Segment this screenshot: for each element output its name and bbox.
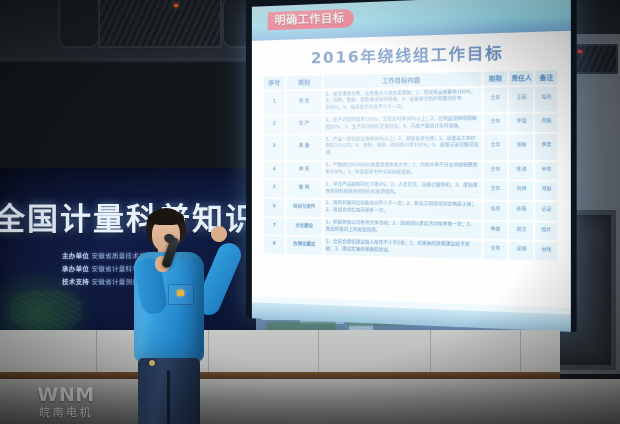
slide-body: 2016年绕线组工作目标 序号 类别 工作目标内容 期限 责任人 备 (252, 31, 571, 308)
cell-owner: 王丽 (510, 87, 534, 113)
cell-category: 合理化建议 (287, 237, 322, 255)
table-row: 6 培训与宣传 1、每月开展岗位技能培训不少于一次；2、新员工岗前培训合格后上岗… (264, 199, 557, 220)
cell-content: 1、每月开展岗位技能培训不少于一次；2、新员工岗前培训合格后上岗；3、班组宣传栏… (324, 200, 482, 219)
cell-deadline: 季度 (484, 221, 508, 239)
cell-content: 1、全员合理化建议每人每年不少于2条；2、对采纳的改善建议给予奖励；3、建议实施… (324, 238, 482, 259)
ac-vent-main (98, 0, 222, 48)
ceiling-indicator-light (174, 4, 178, 7)
credit-label: 承办单位 (62, 265, 89, 273)
col-header-no: 序号 (264, 76, 285, 90)
cell-no: 3 (264, 136, 285, 160)
col-header-deadline: 期限 (484, 71, 508, 85)
col-header-note: 备注 (536, 70, 557, 84)
table-row: 1 安 全 1、安全事故为零，杜绝重大人身伤害事故；2、劳保用品佩戴率100%；… (264, 86, 557, 115)
cell-category: 生 产 (287, 117, 322, 134)
watermark: WNM 皖南电机 (18, 386, 114, 420)
watermark-brand: WNM (18, 386, 114, 405)
cell-owner: 孙燕 (510, 202, 534, 220)
cell-deadline: 全年 (484, 115, 508, 133)
cell-deadline: 全年 (484, 241, 508, 259)
slide-title: 2016年绕线组工作目标 (262, 34, 560, 74)
cell-category: 体 系 (287, 162, 322, 179)
cell-deadline: 全年 (484, 87, 508, 112)
cell-content: 1、生产计划完成率100%，交货及时率98%以上；2、在制品流转周期缩短10%；… (324, 115, 482, 134)
cell-owner: 张敏 (510, 134, 534, 159)
cell-owner: 陈涛 (510, 162, 534, 180)
cell-note: 季度 (536, 134, 557, 159)
cell-content: 1、产品一次交验合格率99%以上；2、顾客投诉为零；3、质量返工率控制在1%以内… (324, 135, 482, 160)
cell-deadline: 全年 (484, 162, 508, 180)
cell-owner: 李强 (510, 114, 534, 132)
cell-no: 5 (264, 180, 285, 197)
cell-deadline: 每月 (484, 201, 508, 219)
col-header-content: 工作目标内容 (324, 72, 482, 89)
jeans-button (149, 360, 155, 366)
col-header-owner: 责任人 (510, 71, 534, 85)
ceiling-panel-left (58, 0, 100, 48)
cell-category: 文化建设 (287, 218, 322, 236)
cell-category: 质 量 (287, 136, 322, 160)
wall-wood-trim (0, 372, 560, 379)
table-row: 2 生 产 1、生产计划完成率100%，交货及时率98%以上；2、在制品流转周期… (264, 114, 557, 134)
watermark-name: 皖南电机 (18, 406, 114, 420)
cell-note: 记录 (536, 202, 557, 220)
hair-fringe (148, 210, 184, 225)
cell-deadline: 全年 (484, 182, 508, 200)
slide-section-tag: 明确工作目标 (268, 9, 354, 30)
table-row: 3 质 量 1、产品一次交验合格率99%以上；2、顾客投诉为零；3、质量返工率控… (264, 134, 557, 159)
photo-scene: 全国计量科普知识竞赛 主办单位 安徽省质量技术监督局 承办单位 安徽省计量科学研… (0, 0, 620, 424)
jacket-badge (177, 290, 184, 296)
cell-note: 半年 (536, 162, 557, 180)
jeans (138, 358, 200, 424)
table-row: 8 合理化建议 1、全员合理化建议每人每年不少于2条；2、对采纳的改善建议给予奖… (264, 237, 557, 261)
cell-content: 1、积极参加公司各项文体活动；2、班组团队建设活动每季度一次；3、营造积极向上的… (324, 219, 482, 239)
cell-note: 月报 (536, 182, 557, 200)
credit-label: 技术支持 (62, 278, 89, 286)
cell-note: 每月 (536, 86, 557, 112)
ac-vent-right-light (578, 50, 582, 53)
cell-note: 台账 (536, 242, 557, 260)
cell-owner: 吴刚 (510, 242, 534, 260)
cell-owner: 刘伟 (510, 182, 534, 200)
col-header-category: 类别 (287, 75, 322, 89)
raised-hand (210, 225, 229, 244)
cell-owner: 周洁 (510, 222, 534, 240)
cell-content: 1、安全事故为零，杜绝重大人身伤害事故；2、劳保用品佩戴率100%；3、消防、警… (324, 88, 482, 115)
cell-note: 月报 (536, 114, 557, 132)
speaker-figure (108, 208, 240, 424)
goals-table: 序号 类别 工作目标内容 期限 责任人 备注 1 安 全 1、安全事故为零，杜绝 (262, 68, 560, 263)
cell-content: 1、严格执行ISO9001质量管理体系文件；2、内审外审不符合项按期整改率100… (324, 162, 482, 180)
cell-no: 2 (264, 117, 285, 134)
cell-category: 培训与宣传 (287, 199, 322, 216)
projection-screen: 明确工作目标 2016年绕线组工作目标 序号 类别 工作目标内容 期限 (246, 0, 577, 332)
cell-no: 4 (264, 162, 285, 179)
cell-category: 安 全 (287, 91, 322, 115)
table-row: 4 体 系 1、严格执行ISO9001质量管理体系文件；2、内审外审不符合项按期… (264, 162, 557, 180)
credit-label: 主办单位 (62, 252, 89, 260)
cell-deadline: 全年 (484, 135, 508, 160)
cell-no: 8 (264, 237, 285, 254)
cell-content: 1、单位产品能耗同比下降3%；2、人走灯灭、设备空载停机；3、漆包线等原材料损耗… (324, 181, 482, 200)
cell-category: 能 耗 (287, 181, 322, 198)
cell-note: 照片 (536, 222, 557, 240)
table-row: 5 能 耗 1、单位产品能耗同比下降3%；2、人走灯灭、设备空载停机；3、漆包线… (264, 180, 557, 200)
cell-no: 6 (264, 199, 285, 216)
cell-no: 1 (264, 91, 285, 115)
slide-surface: 明确工作目标 2016年绕线组工作目标 序号 类别 工作目标内容 期限 (252, 0, 571, 314)
cell-no: 7 (264, 218, 285, 235)
